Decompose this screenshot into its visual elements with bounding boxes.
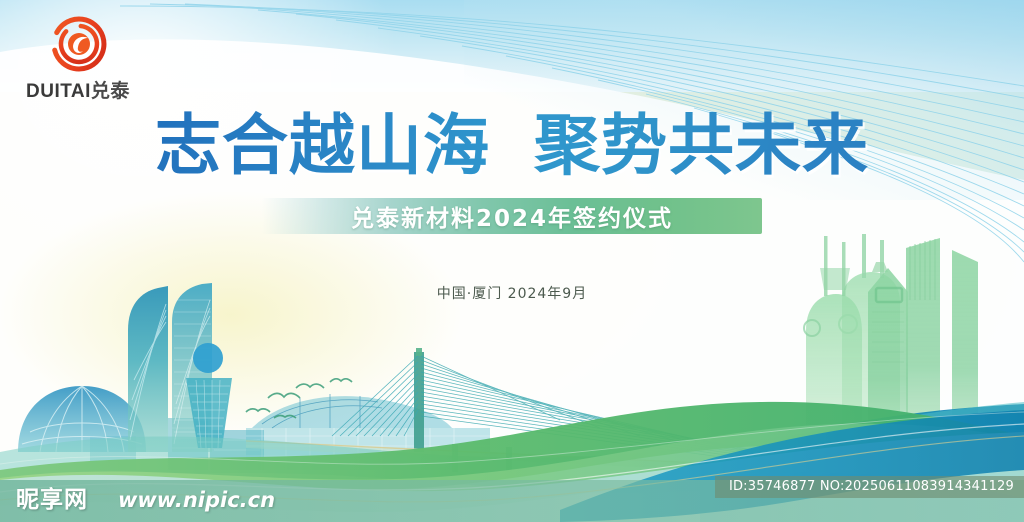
- headline-part-1: 志合越山海: [155, 107, 490, 184]
- page-title: 志合越山海聚势共未来: [0, 104, 1024, 188]
- watermark-url[interactable]: www.nipic.cn: [118, 488, 275, 512]
- subtitle-text: 兑泰新材料2024年签约仪式: [262, 198, 762, 234]
- headline-part-2: 聚势共未来: [534, 107, 869, 184]
- poster-canvas: DUITAI兑泰 志合越山海聚势共未来 兑泰新材料2024年签约仪式 中国·厦门…: [0, 0, 1024, 522]
- spiral-swirl-icon: [50, 16, 108, 72]
- brand-wordmark-cn: 兑泰: [91, 81, 130, 102]
- brand-wordmark-latin: DUITAI: [26, 81, 91, 102]
- watermark-id-line: ID:35746877 NO:20250611083914341129: [715, 476, 1024, 498]
- watermark-site-name: 昵享网: [16, 480, 88, 514]
- brand-wordmark: DUITAI兑泰: [26, 76, 176, 103]
- event-location-date: 中国·厦门 2024年9月: [0, 283, 1024, 303]
- brand-logo: DUITAI兑泰: [26, 16, 176, 98]
